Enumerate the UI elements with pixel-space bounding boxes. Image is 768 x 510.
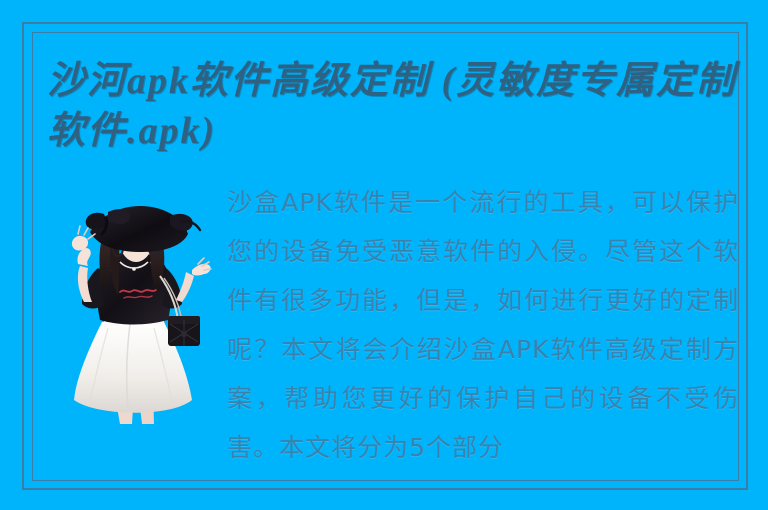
fashion-illustration bbox=[42, 204, 220, 436]
banner-canvas: 沙河apk软件高级定制 (灵敏度专属定制软件.apk) bbox=[0, 0, 768, 510]
article-body: 沙盒APK软件是一个流行的工具，可以保护您的设备免受恶意软件的入侵。尽管这个软件… bbox=[227, 178, 739, 472]
page-title: 沙河apk软件高级定制 (灵敏度专属定制软件.apk) bbox=[47, 56, 737, 156]
